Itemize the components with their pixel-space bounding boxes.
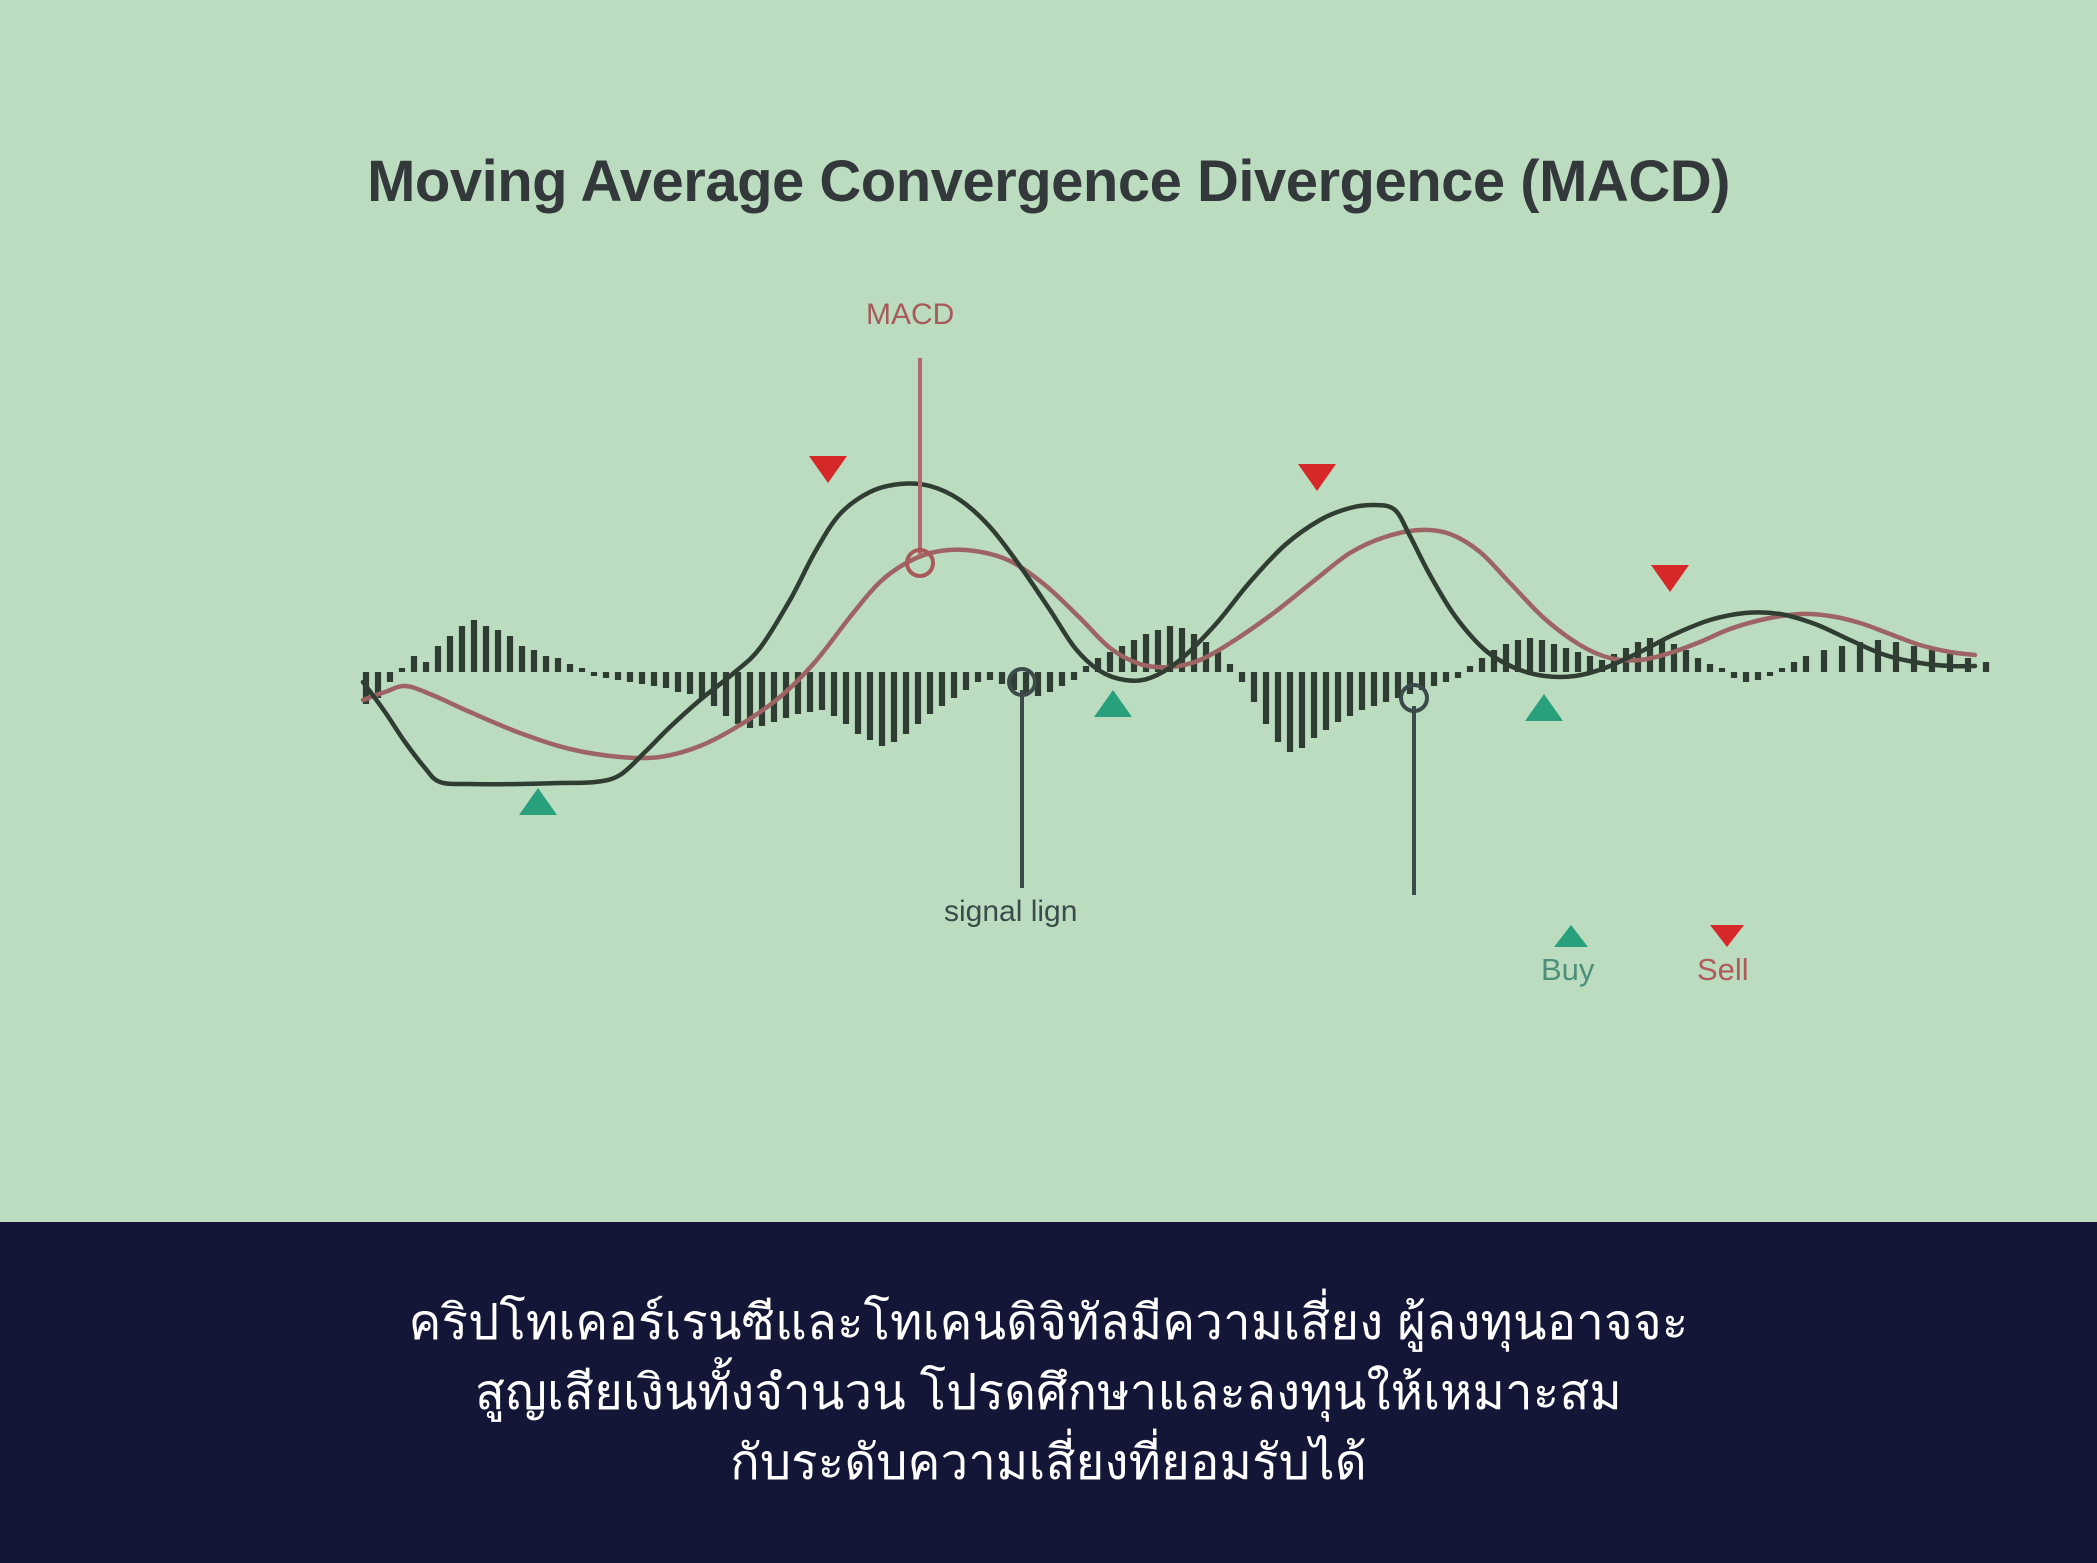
histogram-bar — [939, 672, 945, 706]
histogram-bar — [1275, 672, 1281, 742]
histogram-bar — [687, 672, 693, 694]
histogram-bar — [1455, 672, 1461, 678]
histogram-bar — [1335, 672, 1341, 722]
legend-markers — [1554, 925, 1744, 947]
histogram-bar — [1383, 672, 1389, 702]
histogram-bar — [459, 626, 465, 672]
histogram-bar — [1347, 672, 1353, 716]
histogram-bar — [1821, 650, 1827, 672]
histogram-bar — [1587, 656, 1593, 672]
histogram-bar — [1263, 672, 1269, 724]
histogram-bar — [1059, 672, 1065, 686]
histogram-bar — [1239, 672, 1245, 682]
histogram-bar — [1407, 672, 1413, 694]
histogram-bar — [1683, 650, 1689, 672]
histogram-bar — [1695, 658, 1701, 672]
histogram-bar — [639, 672, 645, 684]
histogram-bar — [831, 672, 837, 716]
histogram-bar — [1359, 672, 1365, 710]
histogram-bar — [1287, 672, 1293, 752]
histogram-bar — [1107, 652, 1113, 672]
sell-marker-triangle-down-icon — [809, 456, 847, 483]
legend-buy-triangle-up-icon — [1554, 925, 1588, 947]
legend-sell-label: Sell — [1697, 952, 1749, 988]
histogram-bar — [1503, 644, 1509, 672]
chart-panel: Moving Average Convergence Divergence (M… — [0, 0, 2097, 1222]
histogram-bar — [843, 672, 849, 724]
histogram-bar — [1443, 672, 1449, 682]
macd-histogram — [363, 620, 1989, 752]
histogram-bar — [1251, 672, 1257, 702]
histogram-bar — [903, 672, 909, 734]
disclaimer-line-1: คริปโทเคอร์เรนซีและโทเคนดิจิทัลมีความเสี… — [409, 1291, 1689, 1355]
histogram-bar — [987, 672, 993, 680]
histogram-bar — [1671, 644, 1677, 672]
disclaimer-banner: คริปโทเคอร์เรนซีและโทเคนดิจิทัลมีความเสี… — [0, 1222, 2097, 1563]
buy-marker-triangle-up-icon — [1525, 694, 1563, 721]
histogram-bar — [951, 672, 957, 698]
buy-marker-triangle-up-icon — [519, 788, 557, 815]
disclaimer-line-3: กับระดับความเสี่ยงที่ยอมรับได้ — [730, 1431, 1367, 1495]
histogram-bar — [1767, 672, 1773, 676]
histogram-bar — [603, 672, 609, 678]
histogram-bar — [1707, 664, 1713, 672]
histogram-bar — [1719, 668, 1725, 672]
histogram-bar — [1779, 668, 1785, 672]
histogram-bar — [1791, 662, 1797, 672]
buy-sell-markers — [519, 456, 1689, 815]
histogram-bar — [927, 672, 933, 714]
sell-marker-triangle-down-icon — [1651, 565, 1689, 592]
histogram-bar — [543, 656, 549, 672]
histogram-bar — [483, 626, 489, 672]
sell-marker-triangle-down-icon — [1298, 464, 1336, 491]
histogram-bar — [1215, 652, 1221, 672]
histogram-bar — [1947, 654, 1953, 672]
histogram-bar — [1755, 672, 1761, 680]
legend-buy-label: Buy — [1541, 952, 1594, 988]
histogram-bar — [1227, 664, 1233, 672]
histogram-bar — [915, 672, 921, 724]
histogram-bar — [1983, 662, 1989, 672]
histogram-bar — [423, 662, 429, 672]
histogram-bar — [855, 672, 861, 734]
histogram-bar — [891, 672, 897, 742]
histogram-bar — [1071, 672, 1077, 680]
histogram-bar — [435, 646, 441, 672]
histogram-bar — [1311, 672, 1317, 738]
histogram-bar — [867, 672, 873, 740]
histogram-bar — [807, 672, 813, 712]
histogram-bar — [1743, 672, 1749, 682]
histogram-bar — [1551, 644, 1557, 672]
histogram-bar — [1539, 640, 1545, 672]
histogram-bar — [1929, 650, 1935, 672]
screenshot-root: Moving Average Convergence Divergence (M… — [0, 0, 2097, 1563]
histogram-bar — [1479, 658, 1485, 672]
histogram-bar — [447, 636, 453, 672]
histogram-bar — [507, 636, 513, 672]
histogram-bar — [1047, 672, 1053, 692]
histogram-bar — [963, 672, 969, 690]
histogram-bar — [1467, 666, 1473, 672]
histogram-bar — [1527, 638, 1533, 672]
histogram-bar — [1803, 656, 1809, 672]
histogram-bar — [879, 672, 885, 746]
histogram-bar — [675, 672, 681, 692]
histogram-bar — [495, 630, 501, 672]
histogram-bar — [1299, 672, 1305, 748]
histogram-bar — [615, 672, 621, 680]
histogram-bar — [1323, 672, 1329, 730]
macd-chart-canvas — [0, 0, 2097, 1222]
histogram-bar — [567, 664, 573, 672]
histogram-bar — [1083, 666, 1089, 672]
histogram-bar — [975, 672, 981, 682]
histogram-bar — [663, 672, 669, 688]
histogram-bar — [1635, 642, 1641, 672]
histogram-bar — [651, 672, 657, 686]
histogram-bar — [579, 668, 585, 672]
legend-sell-triangle-down-icon — [1710, 925, 1744, 947]
histogram-bar — [471, 620, 477, 672]
histogram-bar — [627, 672, 633, 682]
buy-marker-triangle-up-icon — [1094, 690, 1132, 717]
histogram-bar — [759, 672, 765, 726]
histogram-bar — [399, 668, 405, 672]
histogram-bar — [1563, 648, 1569, 672]
histogram-bar — [1911, 646, 1917, 672]
histogram-bar — [1191, 634, 1197, 672]
histogram-bar — [1575, 652, 1581, 672]
histogram-bar — [555, 658, 561, 672]
histogram-bar — [531, 650, 537, 672]
histogram-bar — [387, 672, 393, 682]
histogram-bar — [1875, 640, 1881, 672]
histogram-bar — [771, 672, 777, 722]
histogram-bar — [1731, 672, 1737, 678]
macd-callout-label: MACD — [866, 298, 954, 332]
histogram-bar — [1431, 672, 1437, 686]
histogram-bar — [1839, 646, 1845, 672]
histogram-bar — [735, 672, 741, 724]
histogram-bar — [591, 672, 597, 676]
macd-chart-svg — [0, 0, 2097, 1222]
histogram-bar — [1131, 640, 1137, 672]
histogram-bar — [519, 646, 525, 672]
histogram-bar — [1371, 672, 1377, 706]
histogram-bar — [1647, 638, 1653, 672]
signal-callout-label: signal lign — [944, 895, 1077, 929]
histogram-bar — [999, 672, 1005, 684]
histogram-bar — [411, 656, 417, 672]
disclaimer-line-2: สูญเสียเงินทั้งจำนวน โปรดศึกษาและลงทุนให… — [475, 1361, 1622, 1425]
histogram-bar — [819, 672, 825, 710]
